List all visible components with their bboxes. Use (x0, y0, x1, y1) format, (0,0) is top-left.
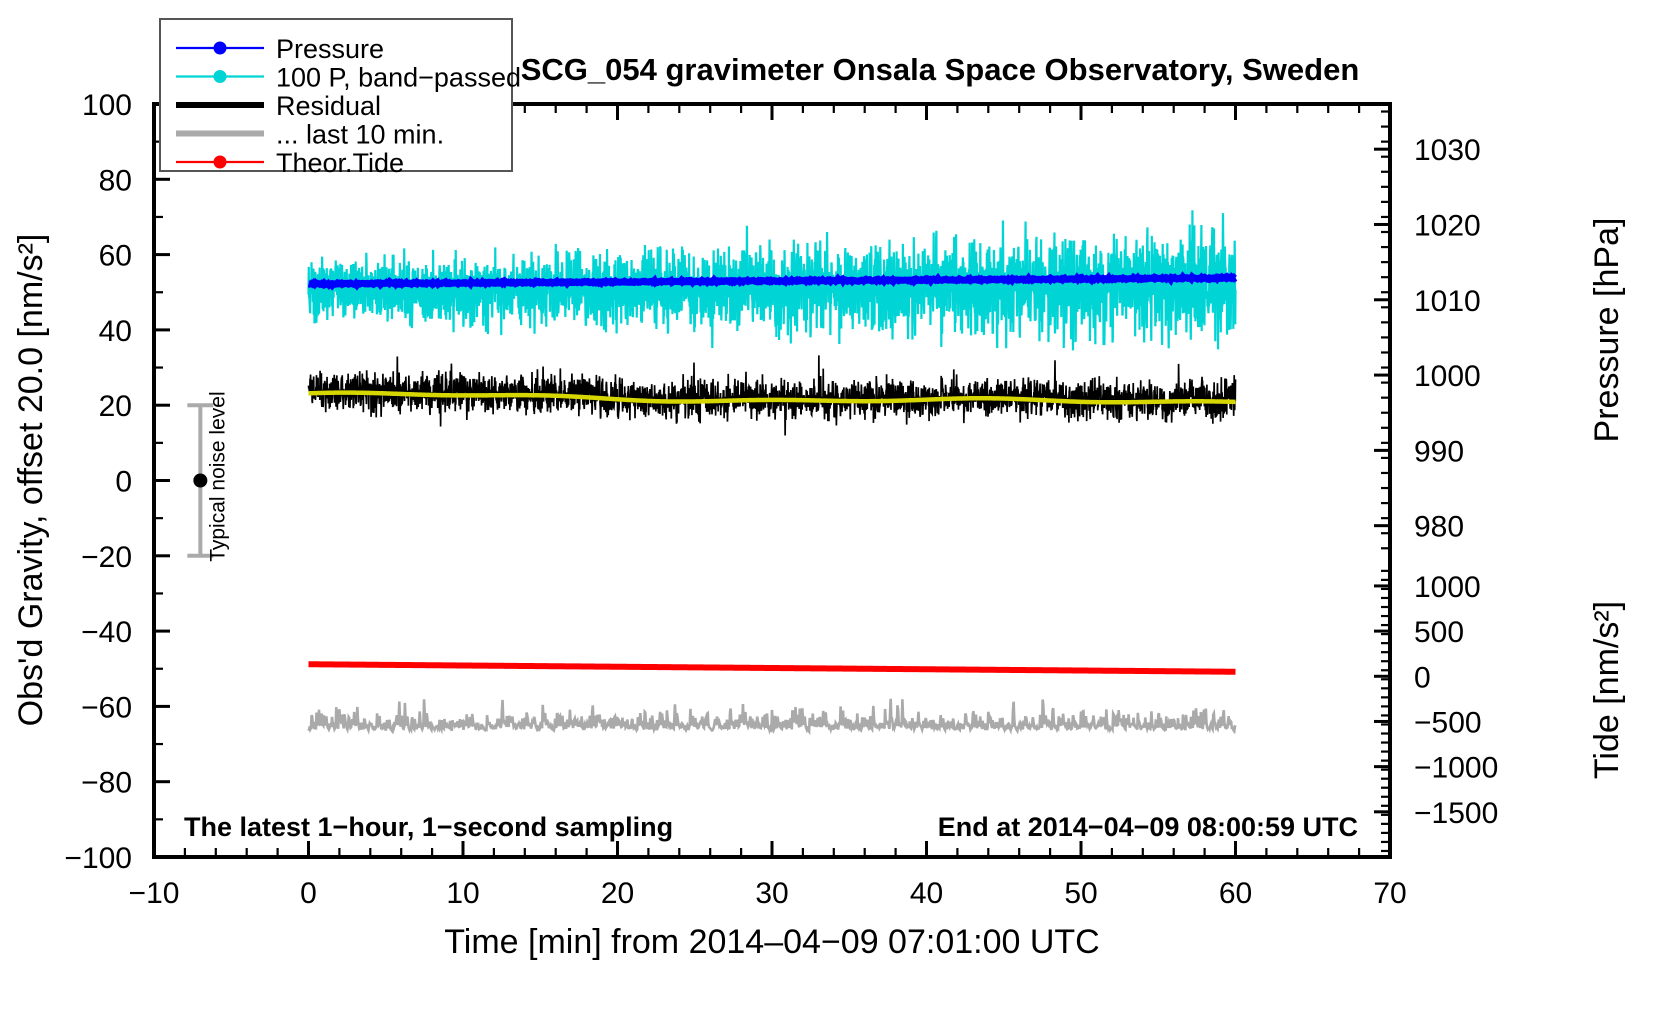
legend-item-label: ... last 10 min. (276, 120, 444, 150)
legend-item-label: Residual (276, 91, 381, 121)
tide-tick-label: 500 (1414, 616, 1464, 649)
tide-tick-label: 0 (1414, 661, 1431, 694)
x-tick-label: 0 (300, 877, 317, 910)
y-tick-label: −60 (81, 691, 132, 724)
chart-page: SCG_054 gravimeter Onsala Space Observat… (0, 0, 1660, 1020)
x-tick-label: −10 (129, 877, 180, 910)
pressure-tick-label: 1030 (1414, 134, 1481, 167)
y-axis-pressure-title: Pressure [hPa] (1588, 218, 1626, 443)
end-time-note: End at 2014−04−09 08:00:59 UTC (938, 812, 1358, 842)
pressure-tick-label: 1000 (1414, 360, 1481, 393)
y-tick-label: 60 (99, 240, 132, 273)
x-axis-title: Time [min] from 2014‒04−09 07:01:00 UTC (444, 923, 1099, 961)
y-tick-label: 0 (115, 466, 132, 499)
legend-item-label: Pressure (276, 34, 384, 64)
page-title: SCG_054 gravimeter Onsala Space Observat… (521, 52, 1360, 87)
pressure-tick-label: 1020 (1414, 209, 1481, 242)
x-tick-label: 40 (910, 877, 943, 910)
pressure-tick-label: 990 (1414, 435, 1464, 468)
y-tick-label: 80 (99, 164, 132, 197)
x-tick-label: 50 (1064, 877, 1097, 910)
y-tick-label: −40 (81, 616, 132, 649)
chart-legend[interactable]: Pressure100 P, band−passedResidual... la… (160, 19, 521, 178)
y-axis-tide-title: Tide [nm/s²] (1588, 601, 1626, 779)
legend-swatch-marker (214, 70, 227, 83)
y-tick-label: −100 (64, 842, 132, 875)
x-tick-label: 20 (601, 877, 634, 910)
legend-item-label: 100 P, band−passed (276, 63, 521, 93)
y-tick-label: −20 (81, 541, 132, 574)
noise-center-dot (193, 474, 207, 488)
x-tick-label: 30 (755, 877, 788, 910)
tide-tick-label: 1000 (1414, 571, 1481, 604)
x-tick-label: 10 (446, 877, 479, 910)
x-tick-label: 70 (1373, 877, 1406, 910)
pressure-tick-label: 980 (1414, 511, 1464, 544)
gravimeter-time-series-chart: SCG_054 gravimeter Onsala Space Observat… (0, 0, 1660, 1020)
tide-tick-label: −1500 (1414, 797, 1498, 830)
y-tick-label: 20 (99, 390, 132, 423)
legend-swatch-marker (214, 156, 227, 169)
tide-tick-label: −1000 (1414, 752, 1498, 785)
tide-tick-label: −500 (1414, 706, 1482, 739)
pressure-tick-label: 1010 (1414, 285, 1481, 318)
noise-level-label: Typical noise level (206, 391, 229, 561)
y-tick-label: 100 (82, 89, 132, 122)
legend-item-label: Theor.Tide (276, 148, 404, 178)
y-axis-title: Obs'd Gravity, offset 20.0 [nm/s²] (12, 234, 50, 727)
legend-swatch-marker (214, 42, 227, 55)
y-tick-label: 40 (99, 315, 132, 348)
y-tick-label: −80 (81, 767, 132, 800)
sampling-note: The latest 1−hour, 1−second sampling (184, 812, 673, 842)
chart-title-group: SCG_054 gravimeter Onsala Space Observat… (521, 52, 1360, 87)
x-tick-label: 60 (1219, 877, 1252, 910)
